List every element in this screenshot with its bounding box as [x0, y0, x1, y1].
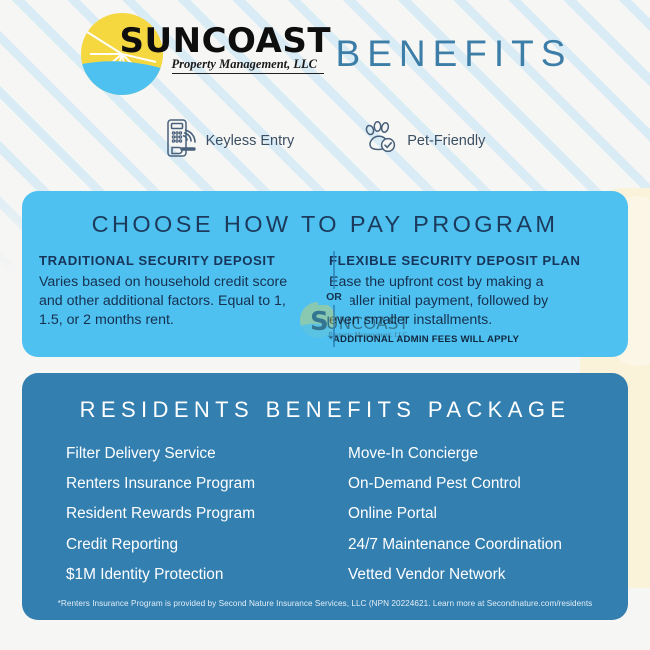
brand-row: SUNCOAST Property Management, LLC BENEFI…: [0, 8, 650, 100]
page-header: SUNCOAST Property Management, LLC BENEFI…: [0, 0, 650, 180]
benefits-column-left: Filter Delivery Service Renters Insuranc…: [22, 439, 325, 590]
logo-tagline: Property Management, LLC: [172, 57, 324, 74]
choose-how-to-pay-card: CHOOSE HOW TO PAY PROGRAM TRADITIONAL SE…: [22, 191, 628, 357]
list-item: $1M Identity Protection: [66, 560, 325, 590]
page-title: BENEFITS: [336, 33, 573, 75]
list-item: Renters Insurance Program: [66, 469, 325, 499]
list-item: On-Demand Pest Control: [348, 469, 628, 499]
feature-pet-friendly: Pet-Friendly: [362, 118, 485, 163]
traditional-deposit-body: Varies based on household credit score a…: [39, 273, 297, 330]
flexible-deposit-heading: FLEXIBLE SECURITY DEPOSIT PLAN: [329, 253, 580, 268]
feature-label-pet-friendly: Pet-Friendly: [407, 133, 485, 149]
feature-badge-row: Keyless Entry Pet-Friendly: [0, 118, 650, 163]
benefits-footnote: *Renters Insurance Program is provided b…: [22, 599, 628, 608]
list-item: Resident Rewards Program: [66, 499, 325, 529]
benefits-columns: Filter Delivery Service Renters Insuranc…: [22, 439, 628, 590]
list-item: Vetted Vendor Network: [348, 560, 628, 590]
keyless-entry-icon: [165, 118, 199, 163]
suncoast-wordmark: SUNCOAST Property Management, LLC: [120, 19, 328, 89]
admin-fees-note: *ADDITIONAL ADMIN FEES WILL APPLY: [329, 334, 580, 345]
list-item: Credit Reporting: [66, 530, 325, 560]
traditional-deposit-column: TRADITIONAL SECURITY DEPOSIT Varies base…: [22, 253, 305, 345]
list-item: Filter Delivery Service: [66, 439, 325, 469]
pay-card-title: CHOOSE HOW TO PAY PROGRAM: [22, 211, 628, 238]
pet-friendly-icon: [362, 119, 400, 162]
residents-benefits-package-card: RESIDENTS BENEFITS PACKAGE Filter Delive…: [22, 373, 628, 620]
list-item: 24/7 Maintenance Coordination: [348, 530, 628, 560]
feature-label-keyless-entry: Keyless Entry: [206, 133, 295, 149]
flexible-deposit-body: Ease the upfront cost by making a smalle…: [329, 273, 580, 330]
list-item: Move-In Concierge: [348, 439, 628, 469]
pay-card-or-label: OR: [318, 289, 350, 305]
traditional-deposit-heading: TRADITIONAL SECURITY DEPOSIT: [39, 253, 297, 268]
list-item: Online Portal: [348, 499, 628, 529]
logo-company-name: SUNCOAST: [120, 21, 332, 61]
feature-keyless-entry: Keyless Entry: [165, 118, 295, 163]
benefits-card-title: RESIDENTS BENEFITS PACKAGE: [22, 397, 628, 423]
benefits-column-right: Move-In Concierge On-Demand Pest Control…: [325, 439, 628, 590]
